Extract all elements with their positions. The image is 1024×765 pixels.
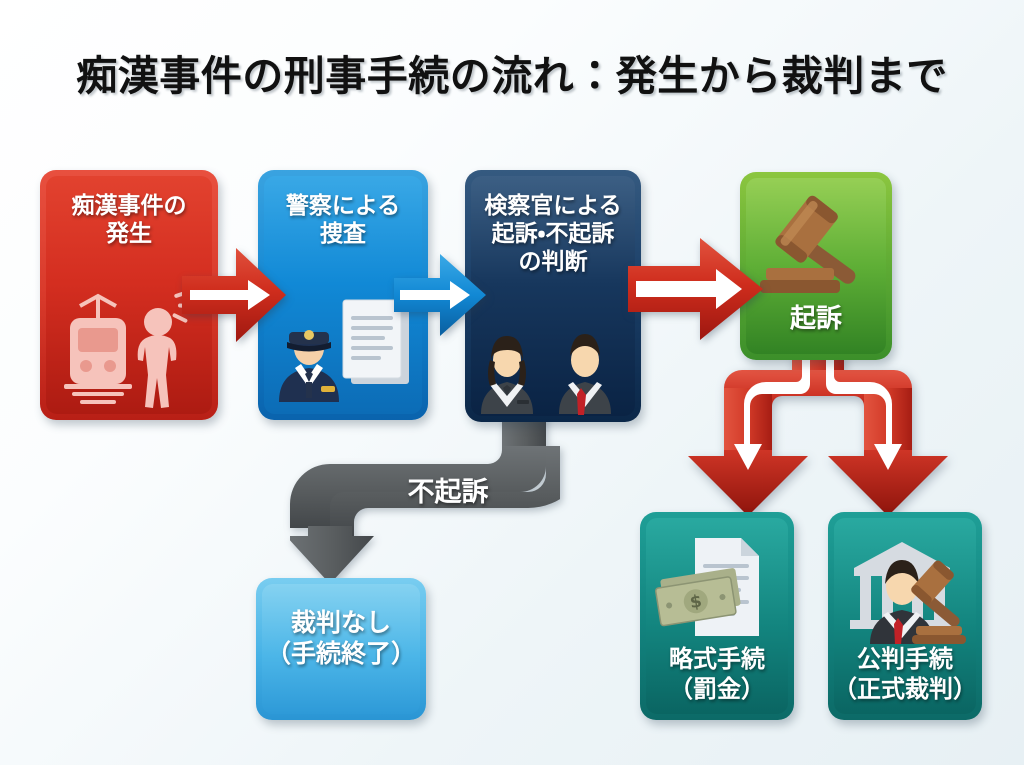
flow-node-police-label: 警察による 捜査 [258, 192, 428, 248]
flow-node-prosecutor-label: 検察官による 起訴・不起訴 の判断 [465, 192, 641, 276]
two-prosecutors-icon [465, 316, 641, 416]
flow-node-formal-trial-label: 公判手続 （正式裁判） [828, 645, 982, 704]
page-title: 痴漢事件の刑事手続の流れ：発生から裁判まで [0, 42, 1024, 102]
flow-node-summary-procedure[interactable]: 略式手続 （罰金） [640, 512, 794, 720]
flow-node-incident-label: 痴漢事件の 発生 [40, 192, 218, 248]
flowchart-canvas: 痴漢事件の刑事手続の流れ：発生から裁判まで 痴漢事件の 発生 [0, 0, 1024, 765]
money-and-document-icon: $ [640, 532, 794, 644]
flow-node-formal-trial[interactable]: 公判手続 （正式裁判） [828, 512, 982, 720]
connector-incident-to-police [182, 246, 286, 344]
connector-prosecutor-to-indictment [628, 236, 763, 342]
connector-police-to-prosecutor [394, 252, 486, 338]
connector-no-trial-label: 不起訴 [368, 470, 528, 509]
courthouse-judge-gavel-icon [828, 530, 982, 646]
flow-node-prosecutor[interactable]: 検察官による 起訴・不起訴 の判断 [465, 170, 641, 422]
flow-node-no-trial-label: 裁判なし （手続終了） [256, 608, 426, 669]
flow-node-summary-procedure-label: 略式手続 （罰金） [640, 645, 794, 704]
flow-node-no-trial[interactable]: 裁判なし （手続終了） [256, 578, 426, 720]
